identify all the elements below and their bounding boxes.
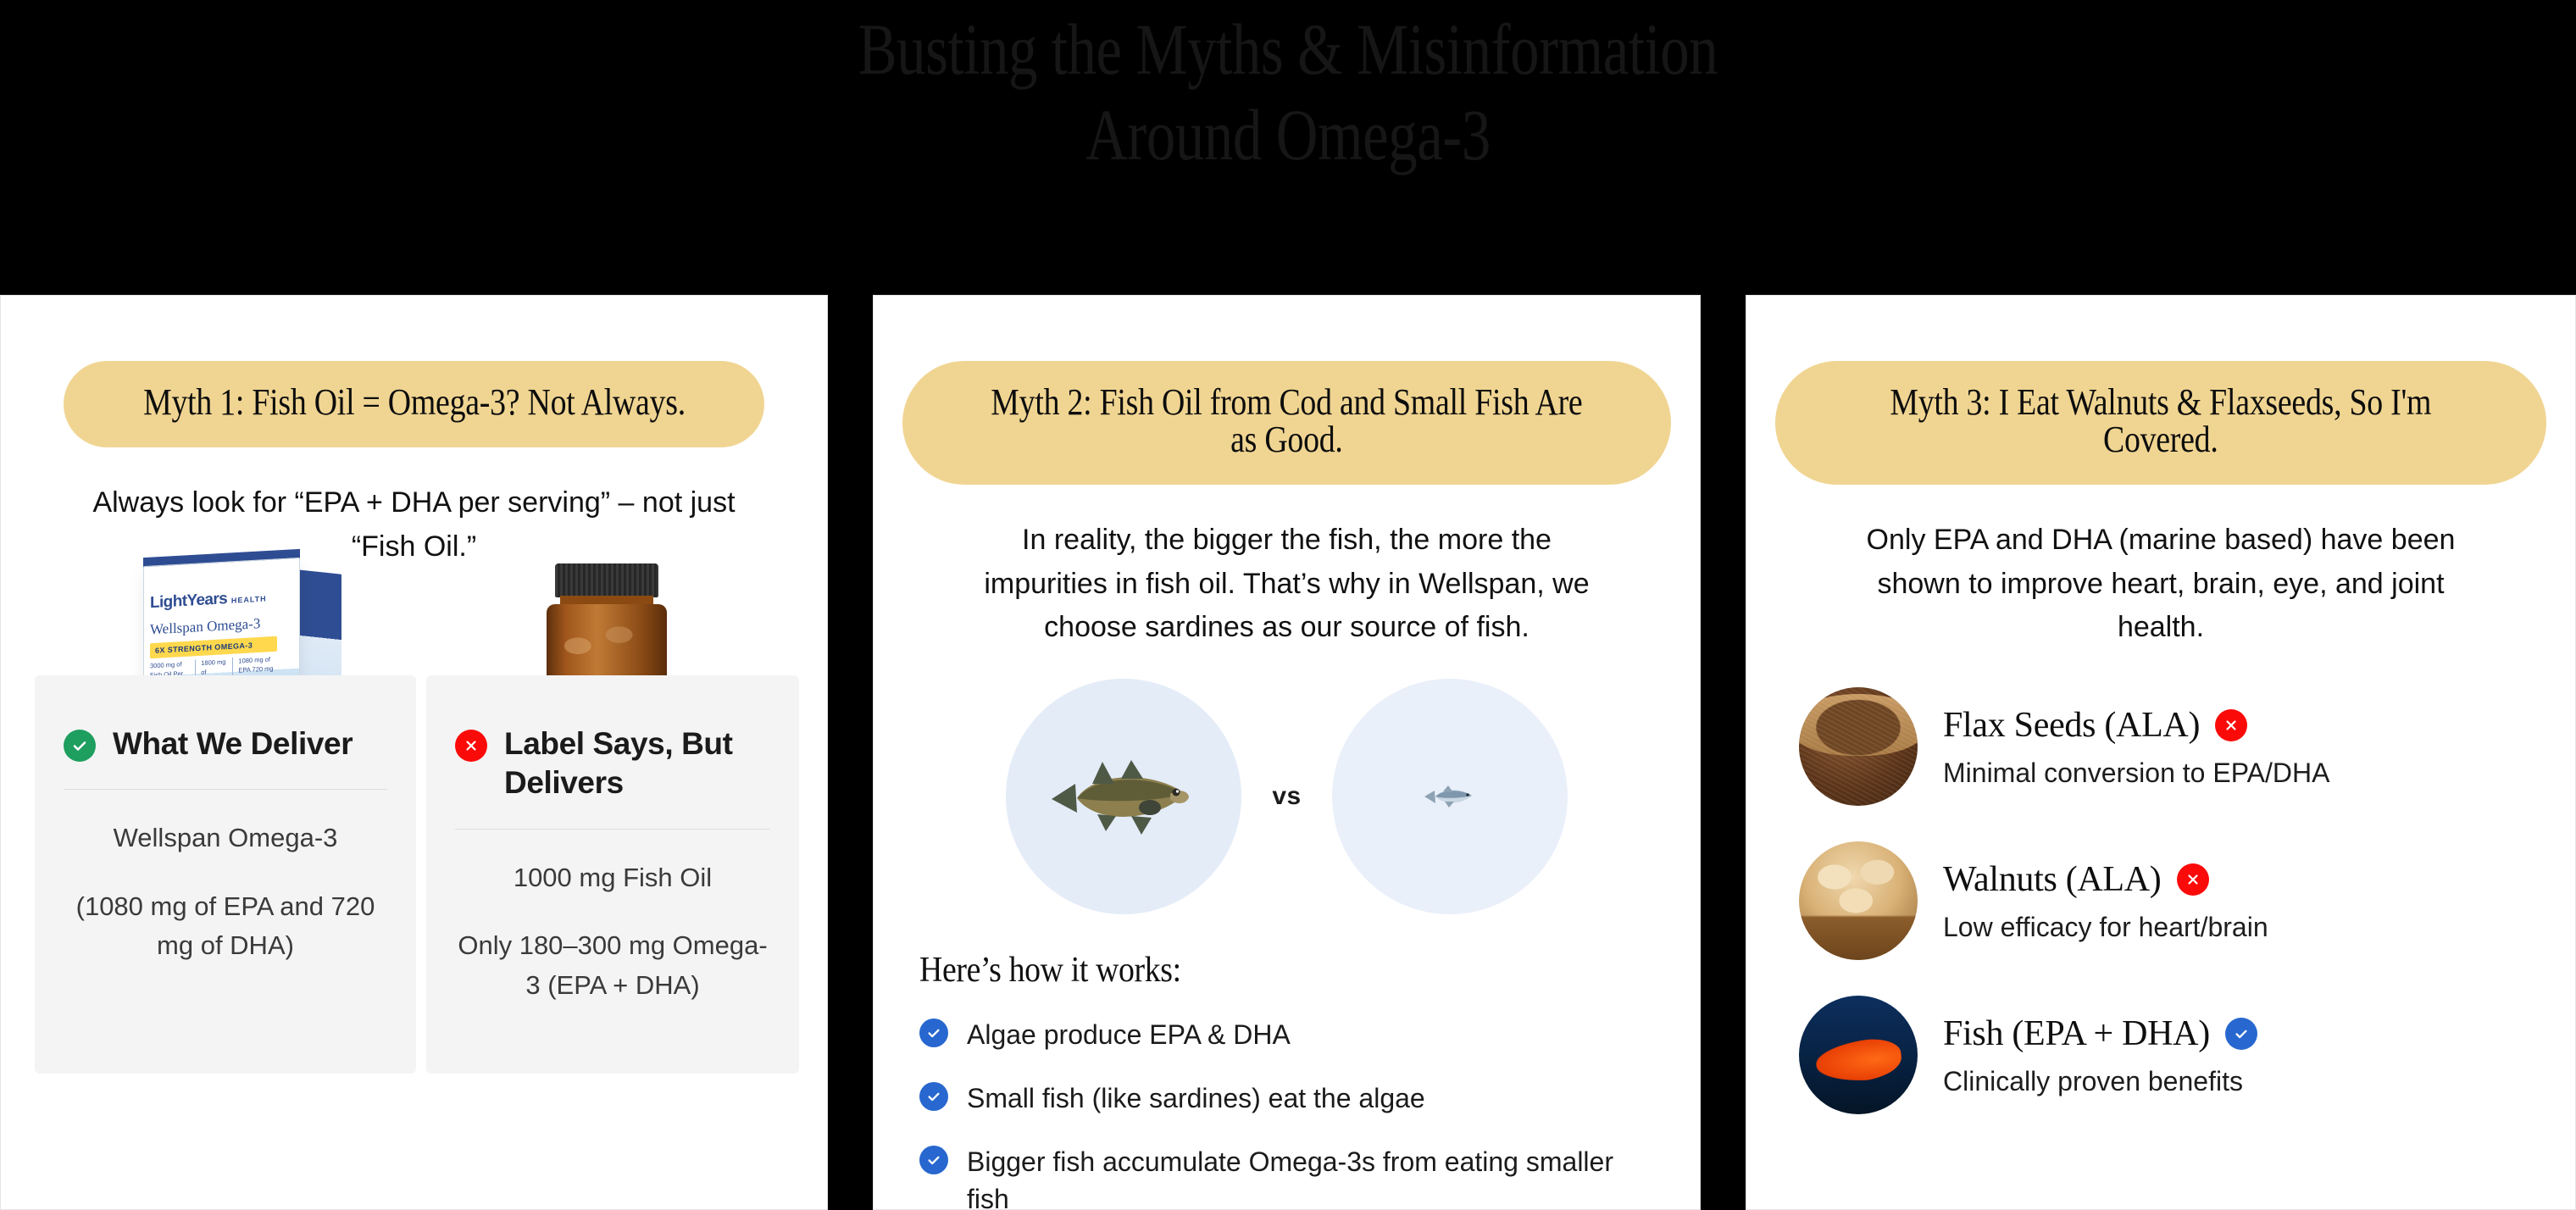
small-fish-circle: [1332, 679, 1568, 914]
food-title-label: Flax Seeds (ALA): [1943, 705, 2200, 746]
label-says-panel: Label Says, But Delivers 1000 mg Fish Oi…: [426, 675, 799, 1074]
food-title-row: Flax Seeds (ALA): [1943, 705, 2523, 746]
fish-image: [1799, 996, 1918, 1114]
panel-header: What We Deliver: [35, 675, 416, 763]
panel-line: (1080 mg of EPA and 720 mg of DHA): [60, 887, 391, 966]
food-title-label: Fish (EPA + DHA): [1943, 1013, 2210, 1054]
cod-fish-icon: [1043, 750, 1204, 843]
myth-card-1: Myth 1: Fish Oil = Omega-3? Not Always. …: [0, 295, 828, 1210]
x-circle-icon: [455, 730, 487, 762]
myth-1-pill: Myth 1: Fish Oil = Omega-3? Not Always.: [64, 361, 765, 447]
food-text: Fish (EPA + DHA) Clinically proven benef…: [1943, 1013, 2523, 1097]
bottle-cap: [555, 563, 658, 597]
list-item: Bigger fish accumulate Omega-3s from eat…: [919, 1143, 1654, 1210]
panel-body: Wellspan Omega-3 (1080 mg of EPA and 720…: [35, 790, 416, 966]
walnuts-image: [1799, 841, 1918, 960]
how-it-works-heading: Here’s how it works:: [919, 950, 1654, 991]
list-item-label: Small fish (like sardines) eat the algae: [967, 1080, 1425, 1118]
fish-comparison: vs: [874, 679, 1700, 914]
myth-3-lede: Only EPA and DHA (marine based) have bee…: [1838, 519, 2484, 650]
x-circle-icon: [2215, 709, 2247, 741]
myth-1-pill-label: Myth 1: Fish Oil = Omega-3? Not Always.: [143, 384, 686, 421]
list-item-label: Algae produce EPA & DHA: [967, 1016, 1291, 1054]
panel-title: What We Deliver: [113, 724, 353, 763]
what-we-deliver-panel: What We Deliver Wellspan Omega-3 (1080 m…: [35, 675, 416, 1074]
panel-line: 1000 mg Fish Oil: [452, 858, 774, 898]
food-subtitle: Clinically proven benefits: [1943, 1066, 2523, 1097]
infographic-page: Busting the Myths & Misinformation Aroun…: [0, 0, 2576, 1210]
page-title: Busting the Myths & Misinformation Aroun…: [258, 7, 2318, 179]
list-item-label: Bigger fish accumulate Omega-3s from eat…: [967, 1143, 1654, 1210]
myth-1-product-illustrations: LightYears HEALTH Wellspan Omega-3 6X ST…: [1, 550, 827, 1101]
myth-card-2: Myth 2: Fish Oil from Cod and Small Fish…: [873, 295, 1701, 1210]
check-circle-icon: [919, 1019, 948, 1047]
flax-seeds-image: [1799, 687, 1918, 806]
food-title-row: Fish (EPA + DHA): [1943, 1013, 2523, 1054]
panel-title: Label Says, But Delivers: [504, 724, 770, 803]
myth-cards-row: Myth 1: Fish Oil = Omega-3? Not Always. …: [0, 295, 2576, 1210]
food-source-list: Flax Seeds (ALA) Minimal conversion to E…: [1799, 687, 2523, 1114]
panel-line: Only 180–300 mg Omega-3 (EPA + DHA): [452, 926, 774, 1005]
myth-2-pill-label: Myth 2: Fish Oil from Cod and Small Fish…: [987, 384, 1587, 458]
x-circle-icon: [2177, 863, 2209, 896]
food-subtitle: Low efficacy for heart/brain: [1943, 912, 2523, 943]
list-item: Fish (EPA + DHA) Clinically proven benef…: [1799, 996, 2523, 1114]
list-item: Algae produce EPA & DHA: [919, 1016, 1654, 1054]
vs-label: vs: [1272, 782, 1301, 811]
check-circle-icon: [64, 730, 96, 762]
list-item: Walnuts (ALA) Low efficacy for heart/bra…: [1799, 841, 2523, 960]
list-item: Small fish (like sardines) eat the algae: [919, 1080, 1654, 1118]
big-fish-circle: [1006, 679, 1241, 914]
box-brand-name: LightYears: [150, 590, 227, 612]
box-brand-suffix: HEALTH: [231, 594, 267, 604]
panel-header: Label Says, But Delivers: [426, 675, 799, 803]
food-title-label: Walnuts (ALA): [1943, 859, 2162, 900]
food-subtitle: Minimal conversion to EPA/DHA: [1943, 758, 2523, 789]
panel-line: Wellspan Omega-3: [60, 819, 391, 858]
how-it-works-section: Here’s how it works: Algae produce EPA &…: [919, 950, 1654, 1210]
food-title-row: Walnuts (ALA): [1943, 859, 2523, 900]
check-circle-icon: [919, 1146, 948, 1174]
myth-card-3: Myth 3: I Eat Walnuts & Flaxseeds, So I'…: [1746, 295, 2576, 1210]
food-text: Walnuts (ALA) Low efficacy for heart/bra…: [1943, 859, 2523, 943]
myth-3-pill-label: Myth 3: I Eat Walnuts & Flaxseeds, So I'…: [1860, 384, 2462, 458]
myth-2-lede: In reality, the bigger the fish, the mor…: [964, 519, 1609, 650]
myth-2-pill: Myth 2: Fish Oil from Cod and Small Fish…: [902, 361, 1671, 485]
sardine-fish-icon: [1423, 783, 1477, 810]
check-circle-icon: [919, 1082, 948, 1111]
how-it-works-list: Algae produce EPA & DHA Small fish (like…: [919, 1016, 1654, 1210]
list-item: Flax Seeds (ALA) Minimal conversion to E…: [1799, 687, 2523, 806]
panel-body: 1000 mg Fish Oil Only 180–300 mg Omega-3…: [426, 830, 799, 1006]
how-it-works-heading-text: Here’s how it works:: [919, 950, 1181, 991]
myth-3-pill: Myth 3: I Eat Walnuts & Flaxseeds, So I'…: [1775, 361, 2546, 485]
food-text: Flax Seeds (ALA) Minimal conversion to E…: [1943, 705, 2523, 789]
check-circle-icon: [2225, 1018, 2257, 1050]
